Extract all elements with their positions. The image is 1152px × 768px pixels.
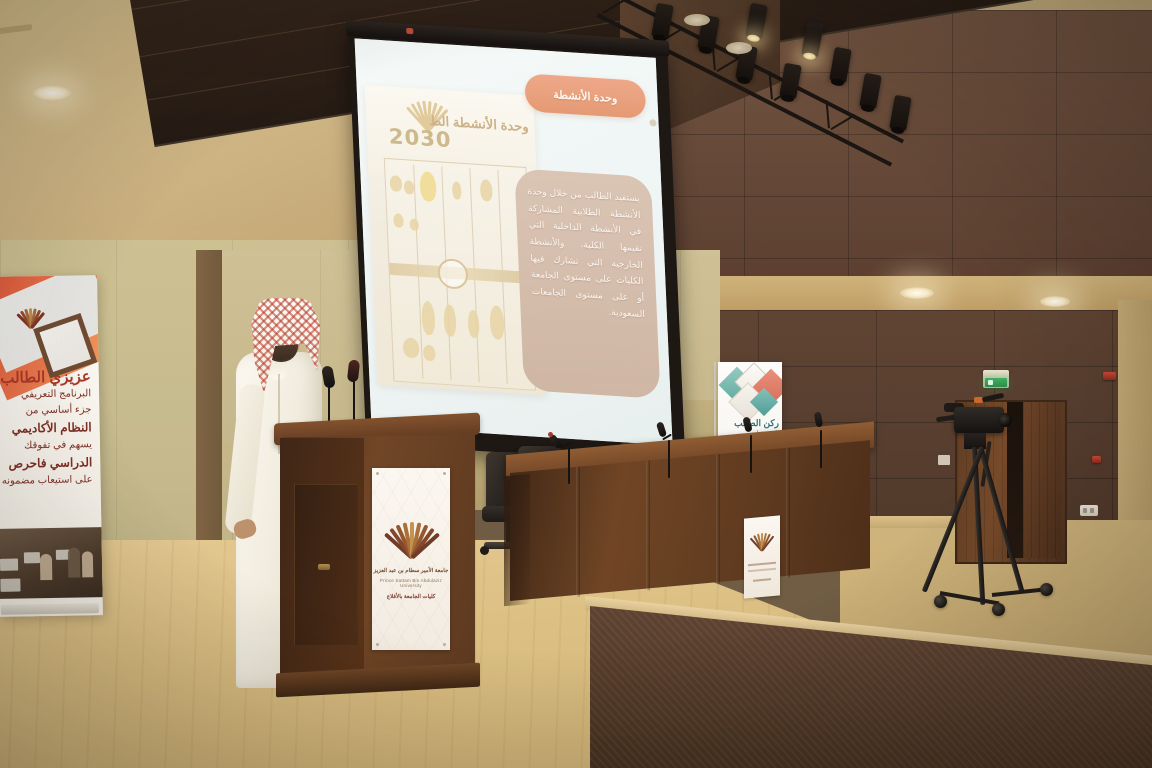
ceiling-speaker — [684, 14, 710, 26]
sign-english-name: Prince Sattam Bin Abdulaziz University — [372, 578, 450, 588]
banner-line: البرنامج التعريفي — [0, 386, 91, 404]
lectern-side-panel — [280, 438, 364, 674]
wall-column — [196, 250, 222, 550]
banner-line: النظام الأكاديمي — [0, 418, 92, 439]
exit-sign-icon — [985, 378, 1007, 387]
banner-line: يسهم في تفوقك — [0, 437, 92, 455]
screen-surface: 2030 وحدة الأنشطة الط — [355, 38, 673, 445]
ceiling-downlight — [900, 287, 934, 299]
banner-line: جزء أساسي من — [0, 402, 92, 420]
slide-section-pill: وحدة الأنشطة — [524, 73, 646, 119]
table-logo-card — [744, 515, 780, 598]
right-wall-edge-column — [1118, 300, 1152, 540]
slide-pill-label: وحدة الأنشطة — [553, 88, 618, 105]
banner-text-block: عزيزي الطالب البرنامج التعريفي جزء أساسي… — [0, 369, 97, 490]
ceiling-vent — [0, 24, 32, 35]
tripod-caster-wheel — [934, 595, 947, 608]
slide-textbox: يستفيد الطالب من خلال وحدة الأنشطة الطلا… — [514, 168, 660, 399]
auditorium-scene: 2030 وحدة الأنشطة الط — [0, 0, 1152, 768]
slide-bullet-dot — [649, 119, 656, 126]
ceiling-speaker — [726, 42, 752, 54]
video-camera-tripod — [930, 395, 1070, 625]
projection-screen: 2030 وحدة الأنشطة الط — [348, 26, 686, 466]
power-outlet[interactable] — [1080, 505, 1098, 516]
lectern-hardware — [318, 564, 330, 570]
ceiling-downlight — [1040, 296, 1070, 307]
slide-body-text: يستفيد الطالب من خلال وحدة الأنشطة الطلا… — [527, 183, 645, 323]
roll-up-banner-left: عزيزي الطالب البرنامج التعريفي جزء أساسي… — [0, 275, 103, 617]
banner-title: عزيزي الطالب — [0, 369, 91, 387]
exit-sign — [983, 370, 1009, 388]
ceiling-downlight — [32, 85, 72, 101]
camera-microphone — [982, 393, 1005, 402]
lectern: جامعة الأمير سطام بن عبد العزيز Prince S… — [276, 418, 478, 693]
panel-conference-table — [506, 455, 874, 625]
lectern-university-sign: جامعة الأمير سطام بن عبد العزيز Prince S… — [372, 468, 450, 650]
university-fan-logo — [384, 516, 438, 558]
tripod-spreader — [940, 591, 1000, 605]
presentation-slide: 2030 وحدة الأنشطة الط — [355, 38, 673, 445]
tripod-leg — [978, 446, 1025, 593]
video-camera — [954, 407, 1004, 433]
banner-line: الدراسي فاحرص — [0, 453, 92, 474]
fire-alarm-strobe-icon — [1103, 372, 1116, 380]
camera-lens-icon — [998, 413, 1012, 427]
tripod-caster-wheel — [1040, 583, 1053, 596]
sign-subtitle: كليات الجامعة بالأفلاج — [372, 594, 450, 600]
screen-indicator-light — [406, 28, 413, 34]
sign-arabic-name: جامعة الأمير سطام بن عبد العزيز — [372, 568, 450, 574]
tripod-caster-wheel — [992, 603, 1005, 616]
table-end-panel — [504, 474, 530, 606]
banner-photo — [0, 527, 103, 599]
exhibition-booth-image — [384, 158, 536, 391]
banner-line: على استيعاب مضمونه — [0, 472, 93, 490]
fire-alarm-strobe-icon — [1092, 456, 1101, 463]
university-fan-logo — [750, 528, 774, 552]
banner-base — [1, 603, 99, 615]
